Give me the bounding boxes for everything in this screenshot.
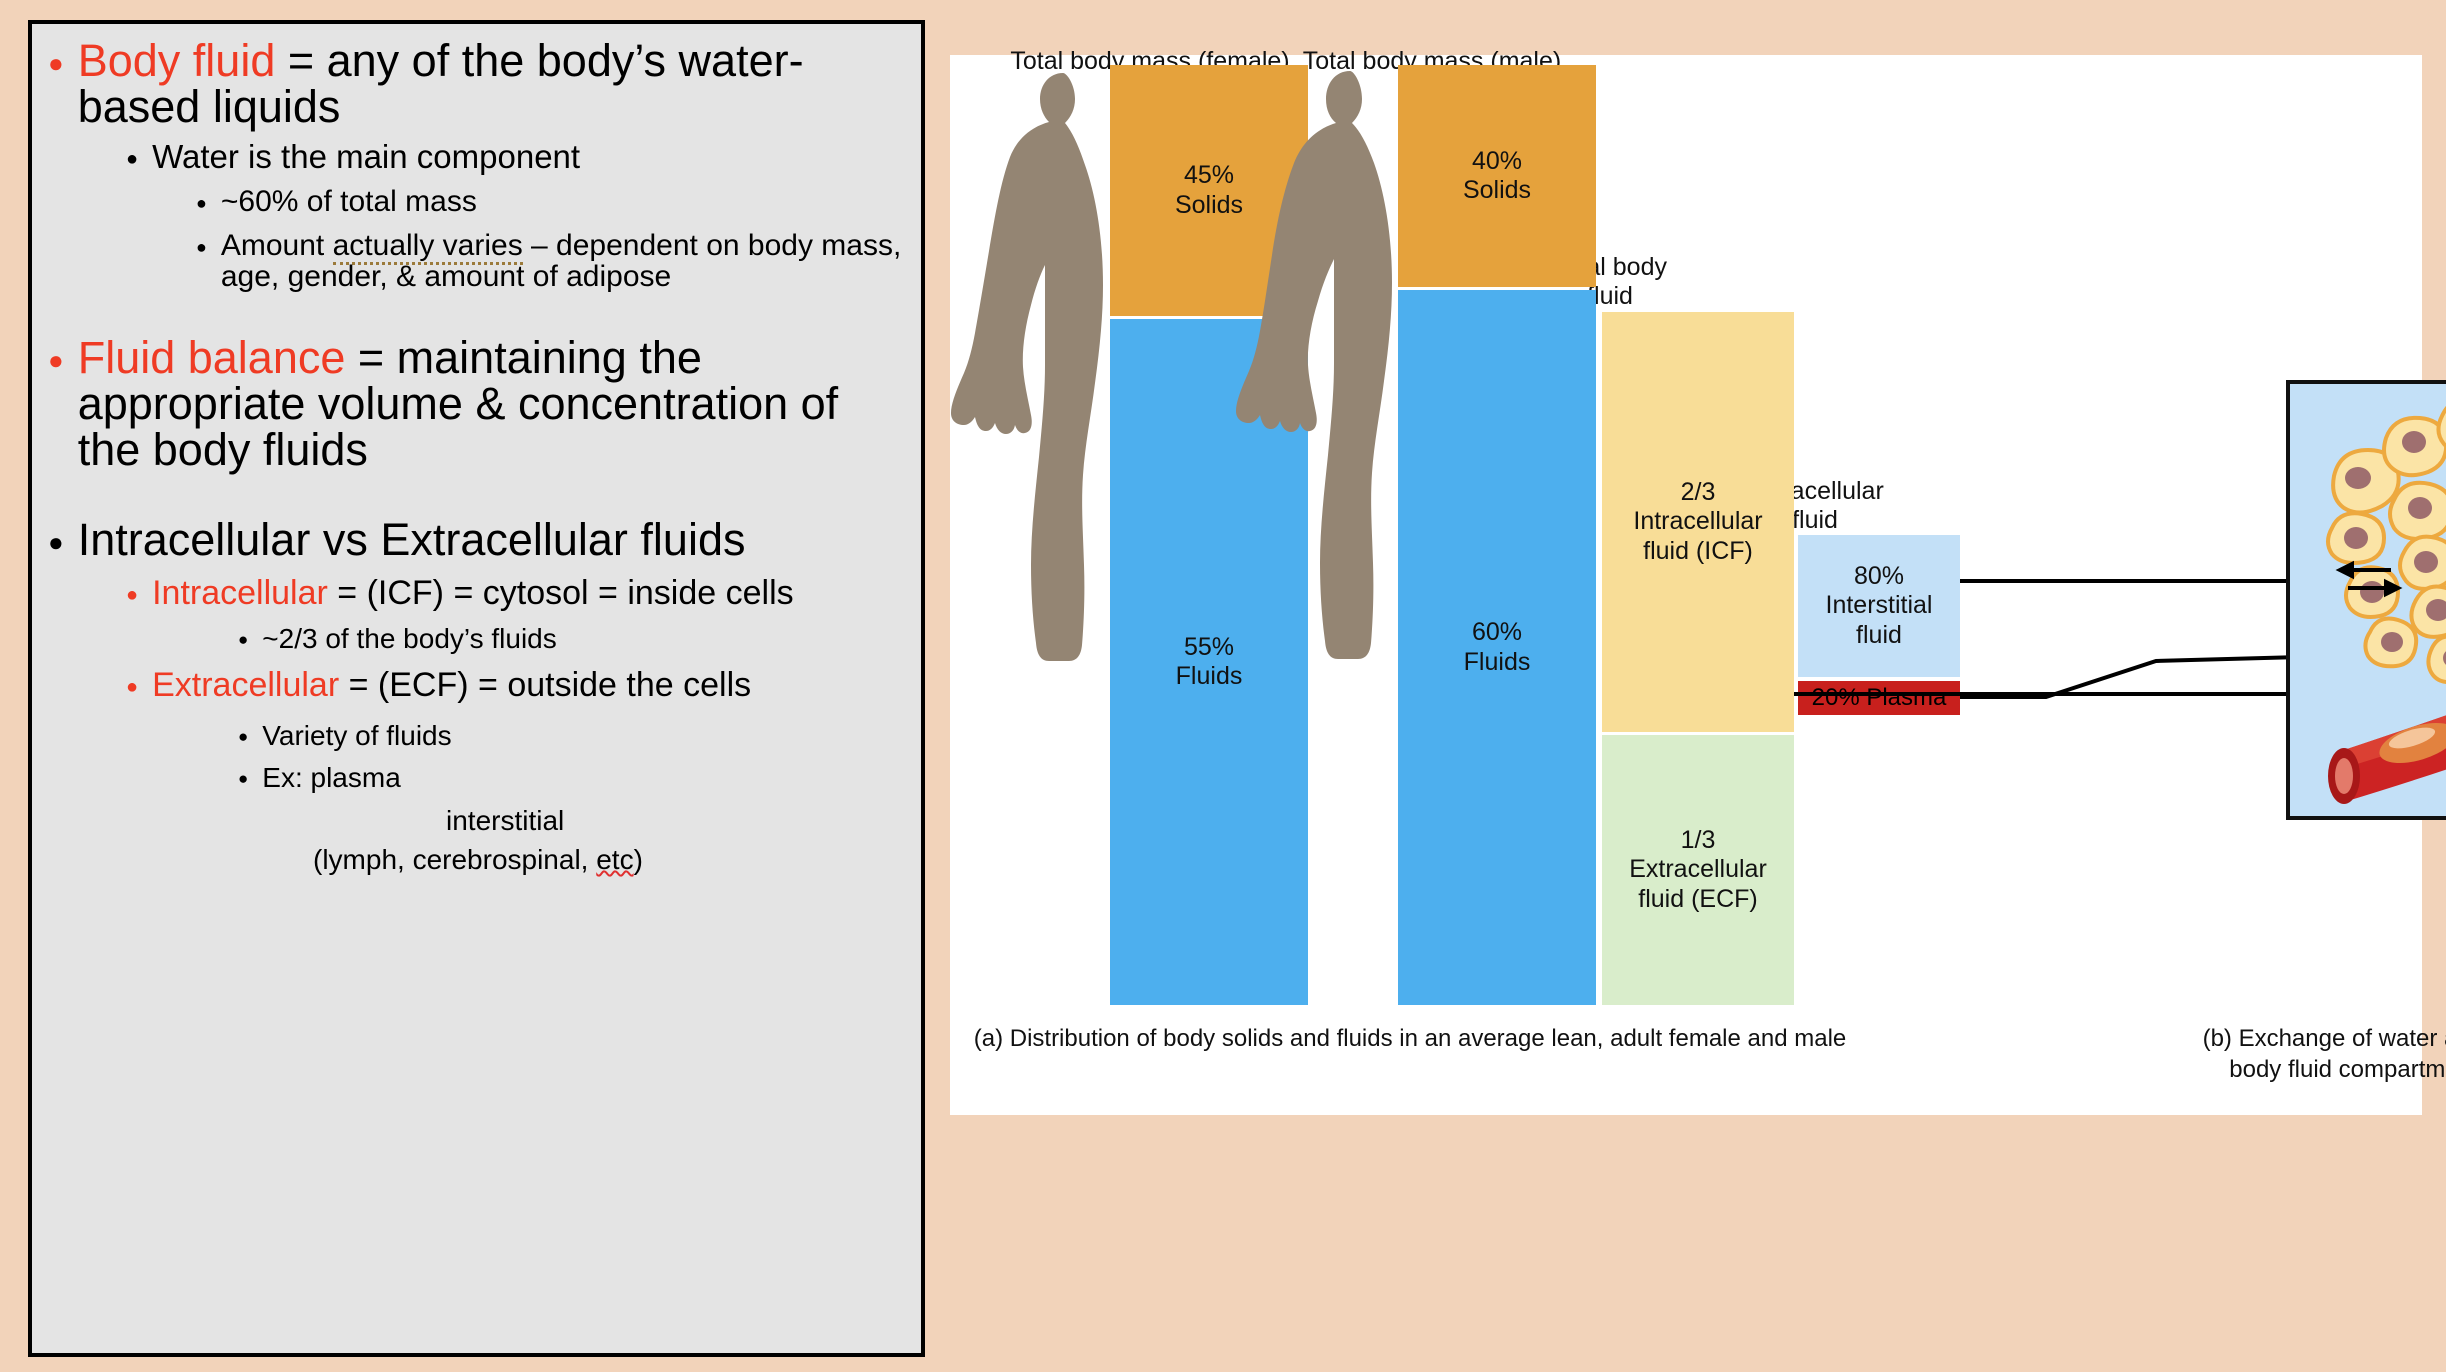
bullet-marker: ●	[196, 230, 221, 256]
bullet-text: Fluid balance = maintaining the appropri…	[78, 335, 905, 473]
bullet-water-main-component: ● Water is the main component	[126, 140, 905, 175]
plasma-to-capillary-line	[1956, 655, 2301, 715]
bullet-extracellular: ● Extracellular = (ECF) = outside the ce…	[126, 668, 905, 704]
ecf-segment: 1/3 Extracellular fluid (ECF)	[1602, 735, 1794, 1005]
bullet-text: Amount actually varies – dependent on bo…	[221, 230, 905, 293]
bullet-marker: ●	[238, 763, 262, 787]
bullet-text: Intracellular = (ICF) = cytosol = inside…	[152, 576, 905, 612]
bullet-highlight: Fluid balance	[78, 332, 346, 383]
bullet-variety-of-fluids: ● Variety of fluids	[238, 721, 905, 750]
interstitial-label: 80% Interstitial fluid	[1826, 562, 1933, 651]
bullet-ex-plasma: ● Ex: plasma	[238, 763, 905, 792]
bullet-marker: ●	[48, 517, 78, 555]
bullet-highlight: Extracellular	[152, 666, 339, 704]
icf-segment: 2/3 Intracellular fluid (ICF)	[1602, 312, 1794, 732]
line-interstitial: interstitial	[446, 806, 905, 837]
plasma-segment: 20% Plasma	[1798, 681, 1960, 715]
bullet-rest: = (ECF) = outside the cells	[339, 666, 751, 704]
interstitial-to-cells-line	[1960, 579, 2290, 583]
bullet-text: Ex: plasma	[262, 763, 905, 792]
panel-b-diagram	[2286, 380, 2446, 820]
line-text-b: )	[634, 844, 643, 875]
slide-canvas: ● Body fluid = any of the body’s water-b…	[0, 0, 2446, 1372]
bullet-highlight: Body fluid	[78, 35, 276, 86]
plasma-label: 20% Plasma	[1812, 684, 1947, 712]
spellcheck-wavy: etc	[596, 844, 633, 875]
ecf-label: 1/3 Extracellular fluid (ECF)	[1629, 826, 1767, 915]
bullet-text: Intracellular vs Extracellular fluids	[78, 517, 905, 563]
bullet-amount-varies: ● Amount actually varies – dependent on …	[196, 230, 905, 293]
bullet-marker: ●	[48, 335, 78, 373]
figure-panel: Total body mass (female) Total body mass…	[950, 55, 2422, 1115]
bullet-text: ~2/3 of the body’s fluids	[262, 624, 905, 653]
bullet-highlight: Intracellular	[152, 574, 328, 612]
bullet-body-fluid: ● Body fluid = any of the body’s water-b…	[48, 38, 905, 130]
bullet-marker: ●	[126, 576, 152, 605]
bullet-text: Extracellular = (ECF) = outside the cell…	[152, 668, 905, 704]
bullet-marker: ●	[126, 140, 152, 169]
bullet-icf-vs-ecf: ● Intracellular vs Extracellular fluids	[48, 517, 905, 563]
bullet-text: ~60% of total mass	[221, 186, 905, 218]
caption-panel-b: (b) Exchange of water among body fluid c…	[2140, 1023, 2446, 1085]
bullet-marker: ●	[48, 38, 78, 76]
bullet-marker: ●	[238, 721, 262, 745]
male-solids-label: 40% Solids	[1463, 147, 1531, 206]
spacer	[48, 475, 905, 517]
bullet-marker: ●	[196, 186, 221, 212]
bullet-fluid-balance: ● Fluid balance = maintaining the approp…	[48, 335, 905, 473]
bullet-sixty-percent: ● ~60% of total mass	[196, 186, 905, 218]
bullet-marker: ●	[238, 624, 262, 648]
male-solids-segment: 40% Solids	[1398, 65, 1596, 287]
interstitial-segment: 80% Interstitial fluid	[1798, 535, 1960, 677]
icf-label: 2/3 Intracellular fluid (ICF)	[1633, 478, 1762, 567]
male-fluids-label: 60% Fluids	[1464, 618, 1531, 677]
caption-panel-a: (a) Distribution of body solids and flui…	[680, 1023, 2140, 1054]
bullet-rest: = (ICF) = cytosol = inside cells	[328, 574, 794, 612]
bullet-marker: ●	[126, 668, 152, 697]
male-fluids-segment: 60% Fluids	[1398, 290, 1596, 1005]
bullet-text: Water is the main component	[152, 140, 905, 175]
bullet-two-thirds-fluids: ● ~2/3 of the body’s fluids	[238, 624, 905, 653]
bullet-text: Body fluid = any of the body’s water-bas…	[78, 38, 905, 130]
bullet-text: Variety of fluids	[262, 721, 905, 750]
text-content-panel: ● Body fluid = any of the body’s water-b…	[28, 20, 925, 1357]
bullet-intracellular: ● Intracellular = (ICF) = cytosol = insi…	[126, 576, 905, 612]
line-text-a: (lymph, cerebrospinal,	[313, 844, 596, 875]
line-lymph-csf: (lymph, cerebrospinal, etc)	[313, 845, 905, 876]
bullet-text-a: Amount	[221, 229, 333, 262]
spacer	[48, 293, 905, 335]
